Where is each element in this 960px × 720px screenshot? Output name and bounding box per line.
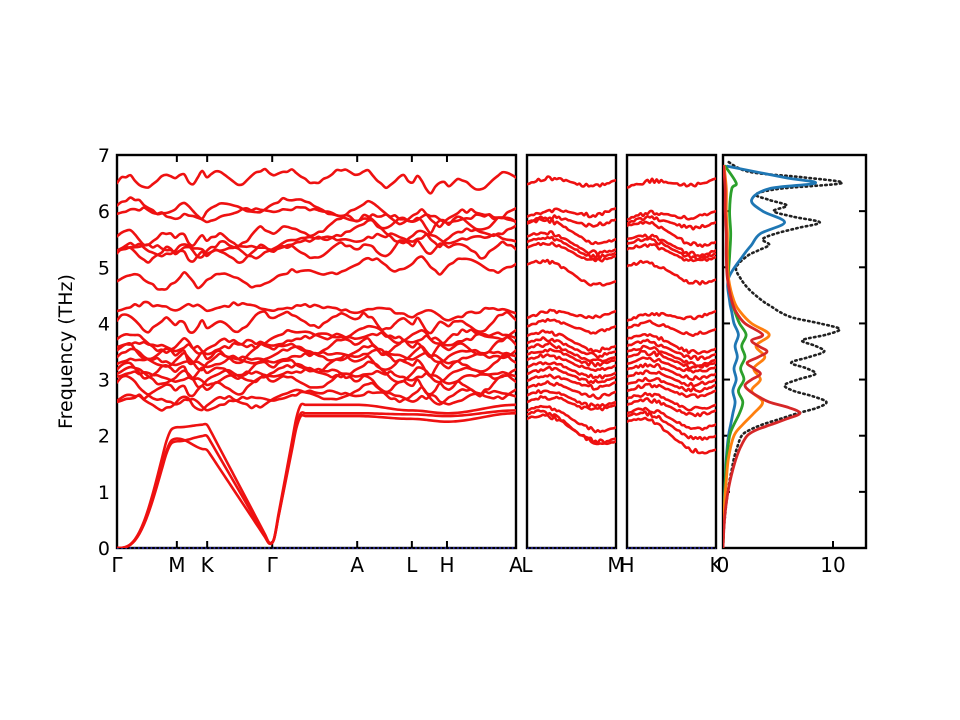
band-branch-15 <box>527 310 616 318</box>
panel-bands-main-xtick-label-1: M <box>168 553 185 577</box>
y-tick-label-5: 5 <box>98 257 110 279</box>
band-branch-18 <box>627 238 716 259</box>
dos-curves <box>723 161 842 548</box>
y-tick-label-0: 0 <box>98 538 110 560</box>
panel-bands-hk-bands <box>627 179 716 454</box>
panel-bands-lm-bands <box>527 176 616 443</box>
panel-bands-hk-xtick-label-0: H <box>619 553 634 577</box>
band-branch-14 <box>117 311 516 333</box>
y-tick-label-7: 7 <box>98 145 110 167</box>
panel-bands-main-xtick-label-4: A <box>350 553 364 577</box>
panel-bands-main-xtick-label-6: H <box>439 553 454 577</box>
y-tick-label-4: 4 <box>98 313 110 335</box>
dos-series-s4 <box>723 166 800 548</box>
band-branch-2 <box>117 404 516 548</box>
band-branch-15 <box>117 302 516 320</box>
panel-bands-main-xtick-label-2: K <box>201 553 215 577</box>
band-branch-23 <box>627 179 716 188</box>
panel-bands-main-xtick-label-0: Γ <box>111 553 123 577</box>
band-branch-15 <box>627 311 716 321</box>
y-tick-label-1: 1 <box>98 482 110 504</box>
y-tick-label-3: 3 <box>98 370 110 392</box>
band-branch-14 <box>627 321 716 336</box>
panel-bands-main-bands <box>117 169 516 548</box>
panel-bands-main-xtick-label-5: L <box>406 553 418 577</box>
band-branch-16 <box>527 260 616 285</box>
band-branch-0 <box>627 418 716 453</box>
y-axis-label: Frequency (THz) <box>55 274 77 429</box>
phonon-plot: Frequency (THz)01234567ΓMKΓALHALMHK010 <box>0 0 960 720</box>
band-branch-22 <box>117 198 516 227</box>
band-branch-1 <box>117 410 516 548</box>
band-branch-16 <box>627 261 716 284</box>
y-tick-label-2: 2 <box>98 426 110 448</box>
dos-xtick-label-10: 10 <box>820 553 845 577</box>
panel-bands-main-xtick-label-3: Γ <box>267 553 279 577</box>
band-branch-13 <box>117 326 516 353</box>
phonon-figure: Frequency (THz)01234567ΓMKΓALHALMHK010 <box>0 0 960 720</box>
dos-series-s1 <box>723 166 816 548</box>
band-branch-21 <box>527 215 616 226</box>
band-branch-23 <box>527 176 616 186</box>
panel-bands-lm-xtick-label-0: L <box>521 553 533 577</box>
band-branch-16 <box>117 257 516 290</box>
band-branch-18 <box>527 237 616 258</box>
band-branch-23 <box>117 169 516 193</box>
y-tick-label-6: 6 <box>98 201 110 223</box>
band-branch-0 <box>117 413 516 548</box>
dos-xtick-label-0: 0 <box>717 553 730 577</box>
band-branch-10 <box>117 346 516 371</box>
